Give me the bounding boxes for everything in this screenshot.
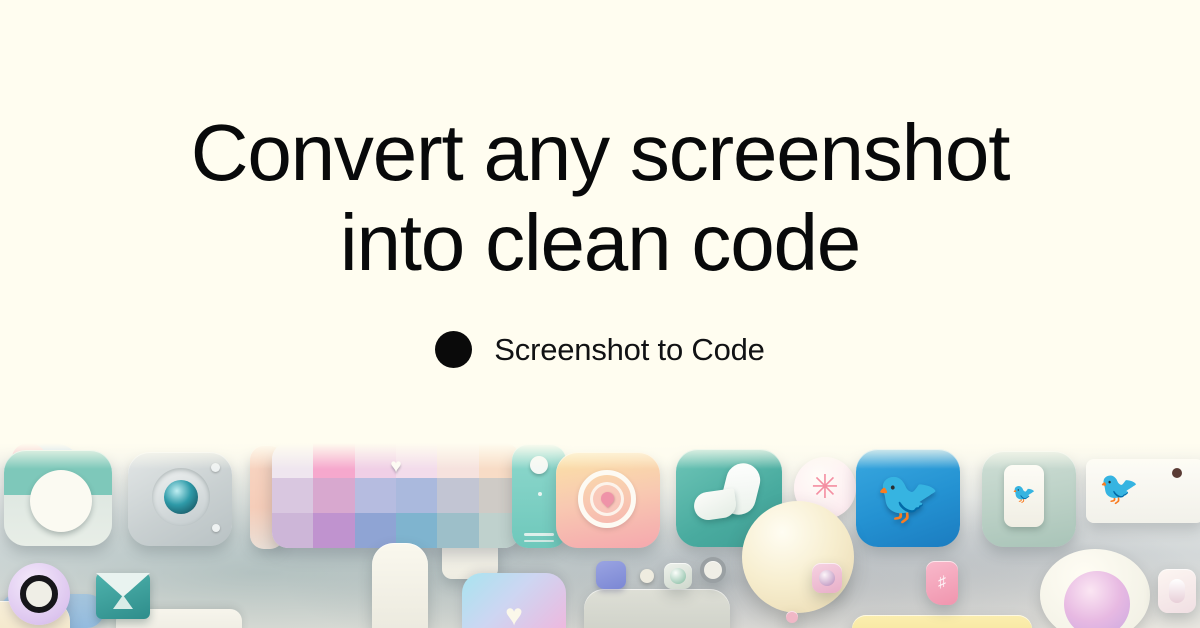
mint-bar-2: [524, 540, 554, 542]
camera-tile: [128, 452, 232, 546]
pink-tag-icon: ♯: [926, 561, 958, 605]
tall-white-tile: [372, 543, 428, 628]
blue-bird-icon: 🐦: [1096, 471, 1142, 505]
envelope-icon: [96, 573, 150, 597]
headline-line-2: into clean code: [100, 198, 1100, 288]
blue-chip-icon: [596, 561, 626, 589]
brand-name: Screenshot to Code: [494, 332, 764, 368]
yellow-pill-tile: [852, 615, 1032, 628]
envelope-arrow: [113, 595, 133, 609]
lavender-ring-tile: [8, 563, 70, 625]
flower-icon: ✳: [808, 470, 842, 504]
heart-icon: ♥: [505, 601, 523, 628]
black-circle-logo-icon: [435, 331, 472, 368]
camera-ring: [152, 468, 210, 526]
camera-dot-top: [211, 463, 220, 472]
twitter-bird-icon: 🐦: [872, 471, 944, 525]
og-banner: Convert any screenshot into clean code S…: [0, 0, 1200, 628]
teal-split-tile: [4, 450, 112, 546]
sage-card: 🐦: [1004, 465, 1044, 527]
small-ring-icon: [700, 557, 726, 583]
cream-sphere: [742, 501, 854, 613]
swatch-row-2: [272, 478, 520, 513]
gray-pill-tile: [584, 589, 730, 628]
brown-dot: [1172, 468, 1182, 478]
camera-icon: [164, 480, 198, 514]
pink-bead-icon: [786, 611, 798, 623]
green-chip-icon: [664, 563, 692, 589]
brand-row: Screenshot to Code: [435, 331, 764, 368]
sage-tile: 🐦: [982, 451, 1076, 547]
hero-section: Convert any screenshot into clean code S…: [0, 0, 1200, 443]
cream-disc: [30, 470, 92, 532]
leaf-icon-secondary: [692, 488, 737, 522]
mint-bar-1: [524, 533, 554, 536]
headline-line-1: Convert any screenshot: [191, 108, 1009, 197]
gradient-heart-tile: ♥: [462, 573, 566, 628]
plate-inner-disc: [1064, 571, 1130, 628]
envelope-tile: [96, 573, 150, 619]
page-title: Convert any screenshot into clean code: [100, 108, 1100, 288]
camera-dot-bottom: [212, 524, 220, 532]
mint-camera-dot: [530, 456, 548, 474]
location-tile: [556, 452, 660, 548]
cream-dot-icon: [640, 569, 654, 583]
right-chip-tile: [1158, 569, 1196, 613]
mint-pixel-dot: [538, 492, 542, 496]
decor-strip: ♥ ✳ 🐦 🐦 🐦: [0, 443, 1200, 628]
gray-bird-icon: 🐦: [1012, 485, 1036, 505]
ring-icon: [20, 575, 58, 613]
bird-card-tile: 🐦: [1086, 459, 1200, 523]
heart-icon: ♥: [390, 457, 401, 476]
twitter-tile: 🐦: [856, 449, 960, 547]
plate-disc: [1040, 549, 1150, 628]
lavender-chip-icon: [812, 563, 842, 593]
color-swatch-grid: ♥: [272, 443, 520, 548]
